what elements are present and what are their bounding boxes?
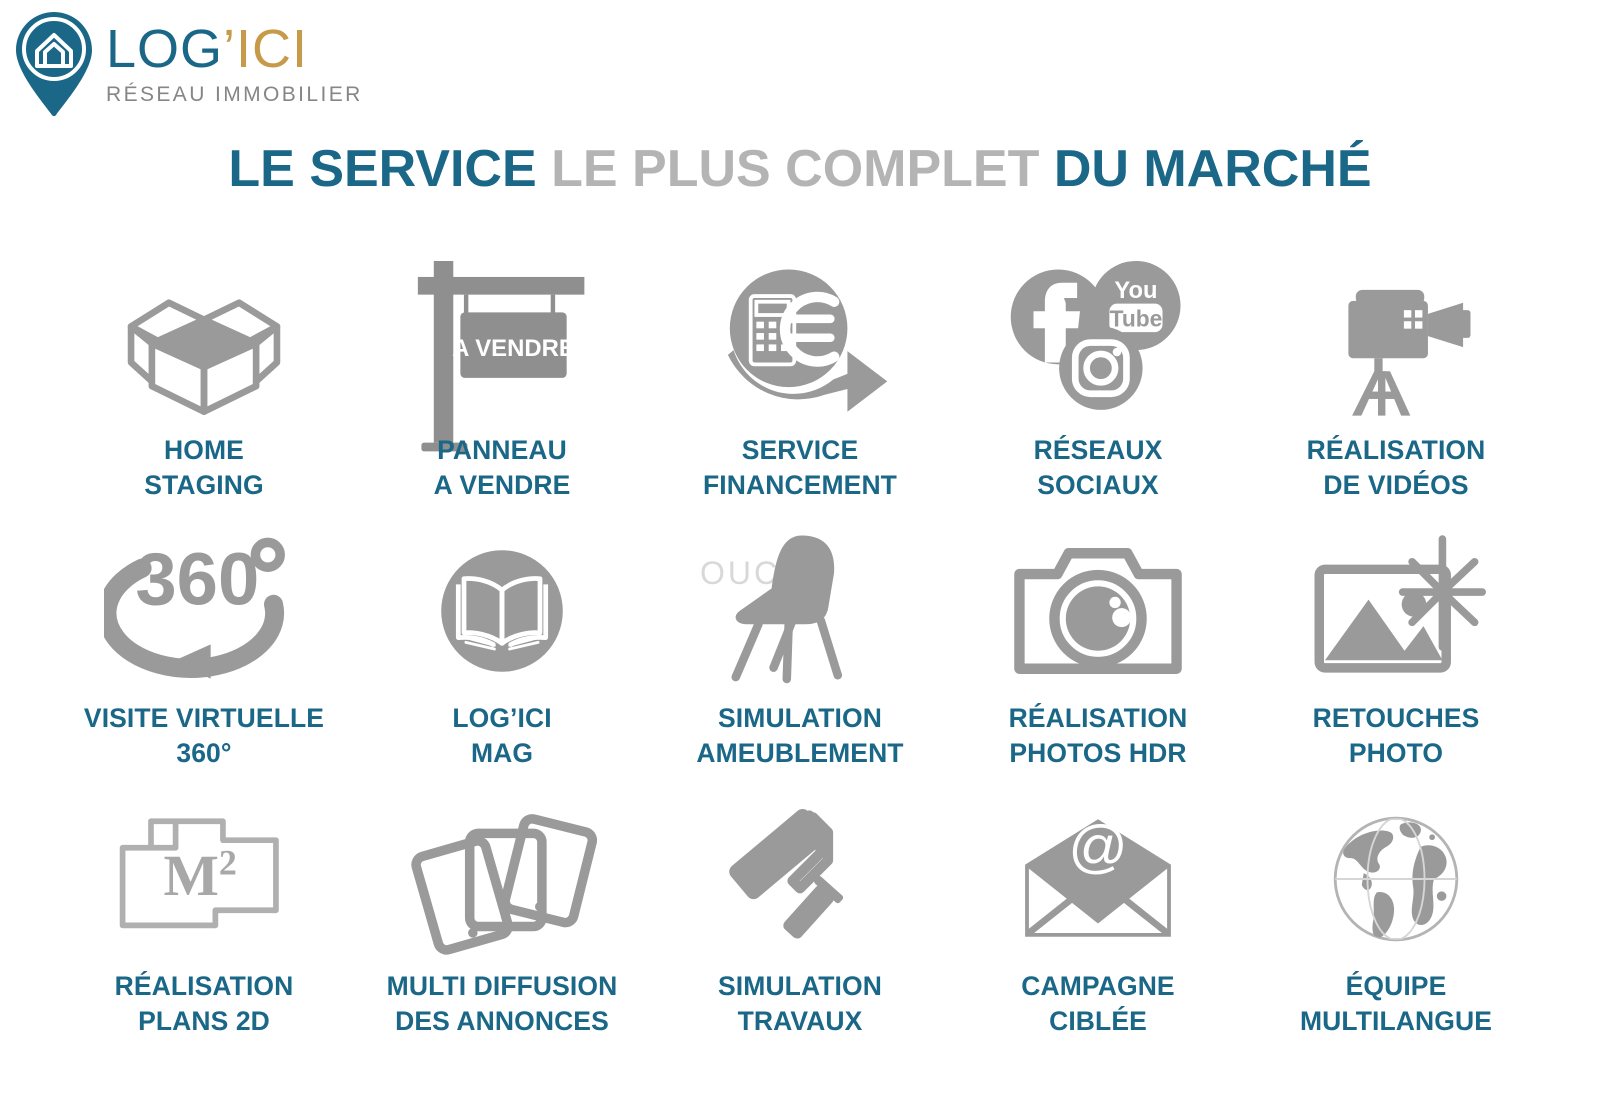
- brand-tagline: RÉSEAU IMMOBILIER: [106, 83, 363, 107]
- service-card-photos-hdr[interactable]: RÉALISATION PHOTOS HDR: [949, 523, 1247, 791]
- brand-name-accent: ’ICI: [223, 19, 308, 79]
- service-card-visite-virtuelle-360[interactable]: 360 VISITE VIRTUELLE 360°: [55, 523, 353, 791]
- service-card-plans-2d[interactable]: M2 RÉALISATION PLANS 2D: [55, 791, 353, 1059]
- icon-text-360: 360: [135, 537, 259, 620]
- photo-camera-icon: [949, 523, 1247, 699]
- service-label: RÉSEAUX SOCIAUX: [1034, 433, 1163, 503]
- open-book-circle-icon: [353, 523, 651, 699]
- envelope-at-icon: @: [949, 791, 1247, 967]
- service-label: ÉQUIPE MULTILANGUE: [1300, 969, 1492, 1039]
- page-title-part2: LE PLUS COMPLET: [551, 140, 1054, 198]
- service-label: SERVICE FINANCEMENT: [703, 433, 897, 503]
- floor-plan-m2-icon: M2: [55, 791, 353, 967]
- svg-text:You: You: [1114, 278, 1157, 304]
- service-card-equipe-multilangue[interactable]: ÉQUIPE MULTILANGUE: [1247, 791, 1545, 1059]
- sign-text: A VENDRE: [452, 335, 575, 362]
- page-title: LE SERVICE LE PLUS COMPLET DU MARCHÉ: [0, 142, 1600, 197]
- service-card-reseaux-sociaux[interactable]: You Tube RÉSEAUX SOCIAUX: [949, 255, 1247, 523]
- icon-text-m2: M2: [164, 842, 237, 908]
- service-label: RÉALISATION DE VIDÉOS: [1307, 433, 1486, 503]
- service-card-home-staging[interactable]: HOME STAGING: [55, 255, 353, 523]
- service-card-multi-diffusion[interactable]: MULTI DIFFUSION DES ANNONCES: [353, 791, 651, 1059]
- service-card-simulation-travaux[interactable]: SIMULATION TRAVAUX: [651, 791, 949, 1059]
- brand-wordmark: LOG’ICI: [106, 22, 363, 76]
- service-label: CAMPAGNE CIBLÉE: [1021, 969, 1174, 1039]
- service-label: MULTI DIFFUSION DES ANNONCES: [387, 969, 618, 1039]
- calculator-euro-icon: [651, 255, 949, 431]
- for-sale-sign-icon: A VENDRE: [353, 255, 651, 431]
- service-label: VISITE VIRTUELLE 360°: [84, 701, 324, 771]
- page-title-part3: DU MARCHÉ: [1054, 140, 1372, 198]
- service-label: RÉALISATION PLANS 2D: [115, 969, 294, 1039]
- tablets-icon: [353, 791, 651, 967]
- chair-icon: [651, 523, 949, 699]
- service-card-retouches-photo[interactable]: RETOUCHES PHOTO: [1247, 523, 1545, 791]
- service-label: SIMULATION TRAVAUX: [718, 969, 882, 1039]
- service-label: PANNEAU A VENDRE: [434, 433, 571, 503]
- service-card-service-financement[interactable]: SERVICE FINANCEMENT: [651, 255, 949, 523]
- 360-rotation-icon: 360: [55, 523, 353, 699]
- service-card-panneau-a-vendre[interactable]: A VENDRE PANNEAU A VENDRE: [353, 255, 651, 523]
- service-card-simulation-ameublement[interactable]: SIMULATION AMEUBLEMENT: [651, 523, 949, 791]
- service-card-campagne-ciblee[interactable]: @ CAMPAGNE CIBLÉE: [949, 791, 1247, 1059]
- service-label: RETOUCHES PHOTO: [1313, 701, 1480, 771]
- svg-text:Tube: Tube: [1110, 305, 1163, 331]
- map-pin-house-icon: [8, 8, 100, 120]
- open-box-icon: [55, 255, 353, 431]
- at-symbol: @: [1068, 815, 1128, 880]
- social-networks-icon: You Tube: [949, 255, 1247, 431]
- service-label: RÉALISATION PHOTOS HDR: [1009, 701, 1188, 771]
- instagram-icon: [1059, 326, 1142, 409]
- globe-icon: [1247, 791, 1545, 967]
- slide-root: LOG’ICI RÉSEAU IMMOBILIER LE SERVICE LE …: [0, 0, 1600, 1120]
- service-label: LOG’ICI MAG: [452, 701, 551, 771]
- service-label: HOME STAGING: [144, 433, 263, 503]
- video-camera-tripod-icon: [1247, 255, 1545, 431]
- service-card-realisation-videos[interactable]: RÉALISATION DE VIDÉOS: [1247, 255, 1545, 523]
- picture-sparkle-icon: [1247, 523, 1545, 699]
- service-card-logici-mag[interactable]: LOG’ICI MAG: [353, 523, 651, 791]
- brand-name-primary: LOG: [106, 19, 223, 79]
- brand-logo: LOG’ICI RÉSEAU IMMOBILIER: [8, 8, 363, 120]
- paint-roller-icon: [651, 791, 949, 967]
- page-title-part1: LE SERVICE: [228, 140, 551, 198]
- services-grid: HOME STAGING A VENDRE PANNEAU A VEND: [55, 255, 1545, 1059]
- service-label: SIMULATION AMEUBLEMENT: [696, 701, 903, 771]
